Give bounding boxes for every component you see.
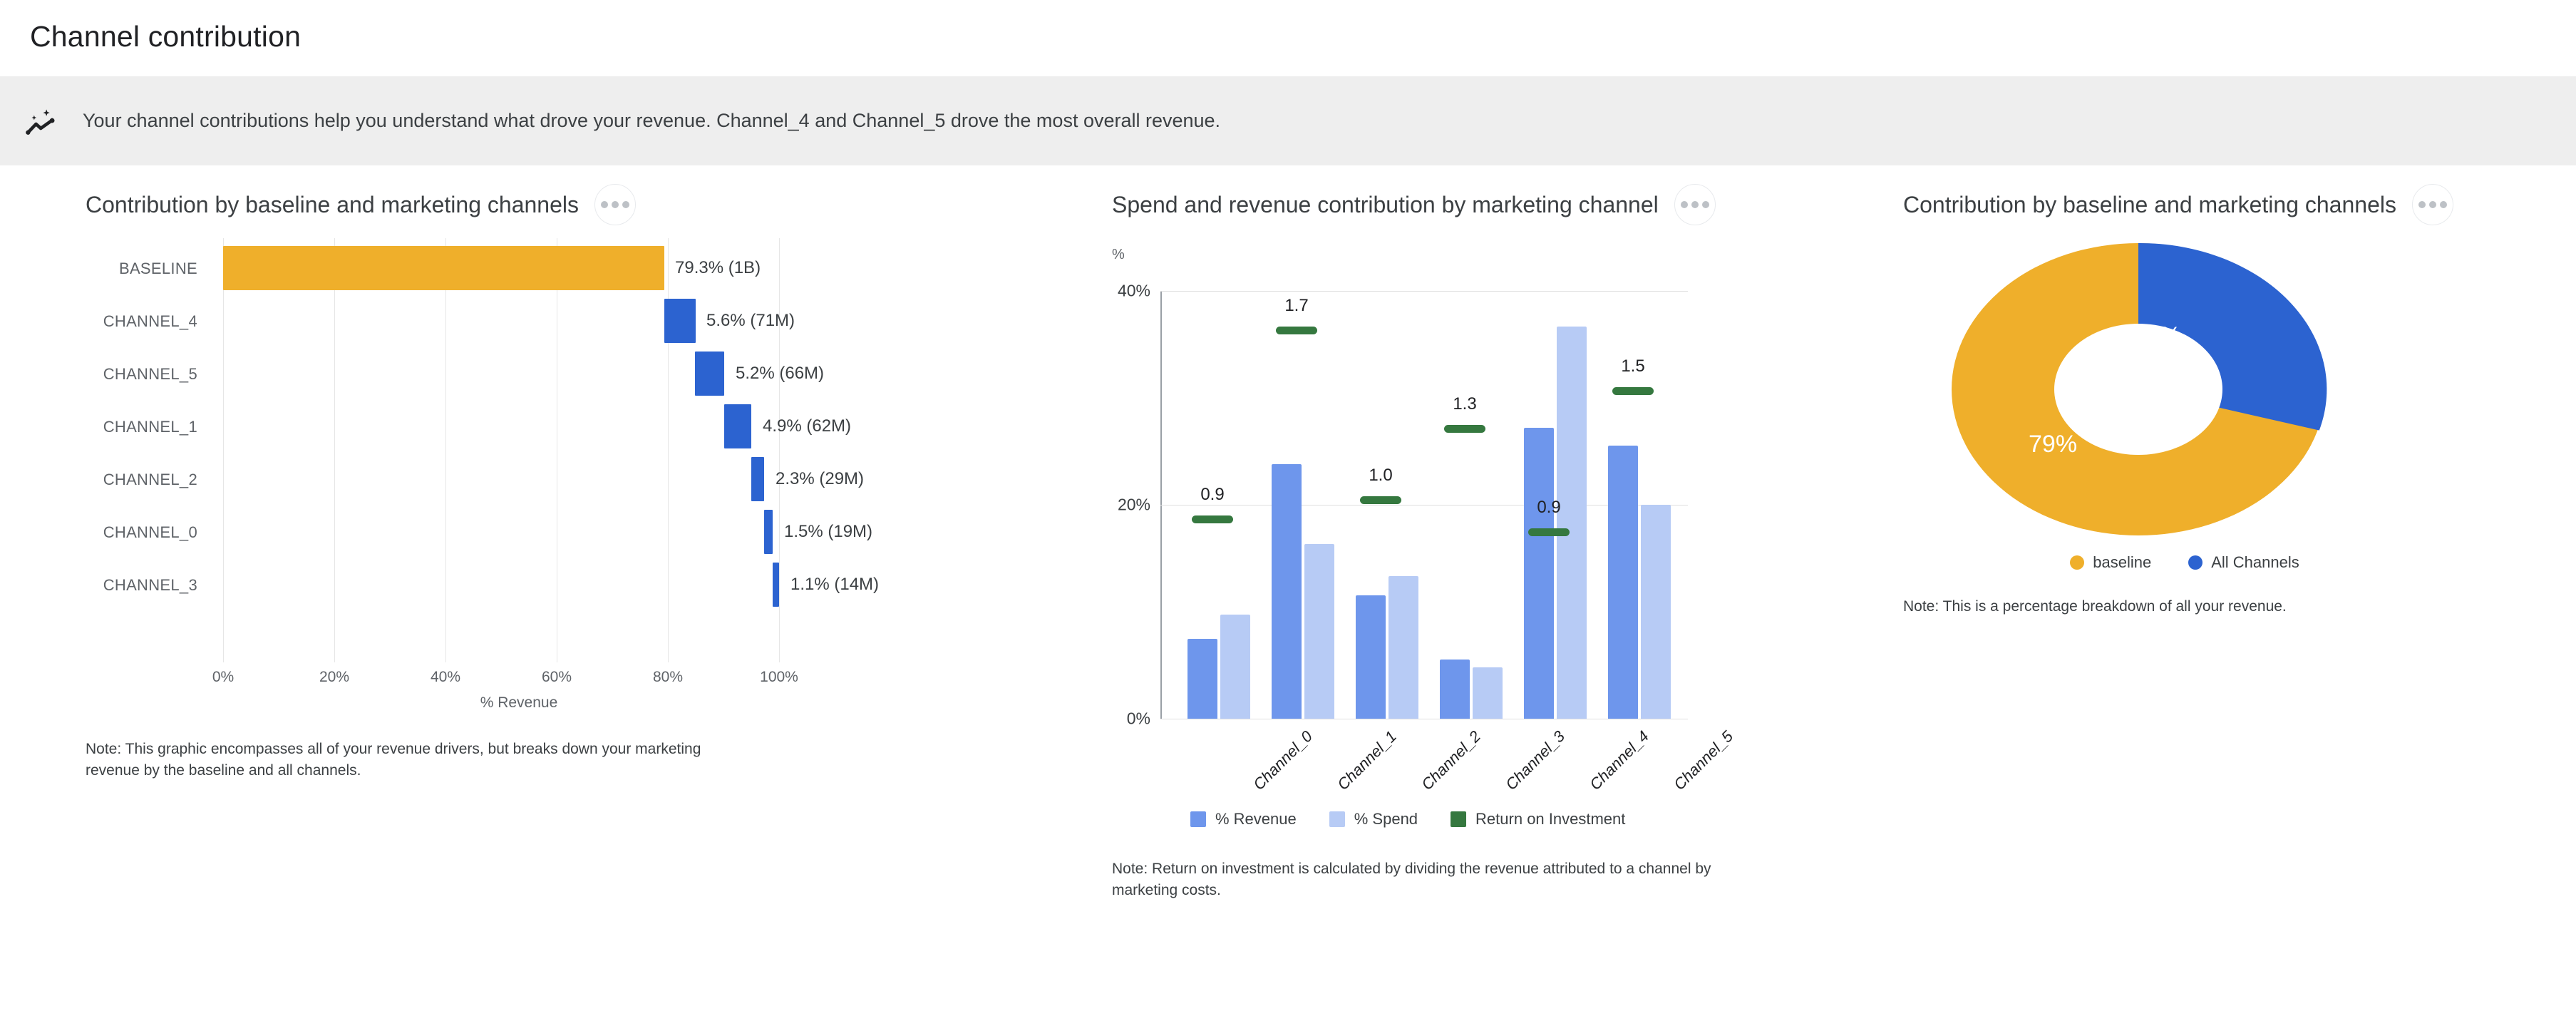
grouped-bar-spend-channel-1[interactable] bbox=[1304, 544, 1334, 719]
ellipsis-dot-icon bbox=[1691, 201, 1699, 208]
grouped-bar-spend-channel-4[interactable] bbox=[1557, 327, 1587, 719]
donut-note: Note: This is a percentage breakdown of … bbox=[1903, 596, 2459, 617]
waterfall-xtick: 0% bbox=[212, 669, 234, 686]
grouped-bar-spend-channel-3[interactable] bbox=[1473, 667, 1503, 719]
waterfall-x-axis-title: % Revenue bbox=[223, 694, 815, 712]
legend-dot-all-channels-icon bbox=[2188, 555, 2203, 570]
grouped-roi-marker-channel-4[interactable] bbox=[1528, 528, 1570, 536]
donut-svg bbox=[1917, 240, 2359, 539]
waterfall-category-label: CHANNEL_3 bbox=[86, 555, 210, 615]
auto-insight-sparkle-icon bbox=[20, 101, 61, 142]
waterfall-note: Note: This graphic encompasses all of yo… bbox=[86, 739, 713, 781]
grouped-bar-chart: % 0% 20% 40% 0.9 bbox=[1112, 247, 1704, 717]
legend-swatch-roi-icon bbox=[1451, 811, 1466, 827]
card-grouped-title: Spend and revenue contribution by market… bbox=[1112, 191, 1659, 218]
donut-legend-item-baseline[interactable]: baseline bbox=[2070, 553, 2151, 572]
waterfall-category-label: CHANNEL_0 bbox=[86, 502, 210, 563]
waterfall-xtick: 20% bbox=[319, 669, 349, 686]
ellipsis-dot-icon bbox=[1681, 201, 1688, 208]
grouped-roi-marker-channel-3[interactable] bbox=[1444, 425, 1485, 433]
waterfall-xtick: 80% bbox=[653, 669, 683, 686]
donut-legend-label-all-channels: All Channels bbox=[2211, 553, 2299, 572]
grouped-xtick-channel-3: Channel_3 bbox=[1502, 727, 1569, 794]
insight-banner-text: Your channel contributions help you unde… bbox=[83, 110, 1220, 132]
grouped-ytick: 0% bbox=[1127, 709, 1150, 729]
legend-swatch-spend-icon bbox=[1329, 811, 1345, 827]
legend-label-revenue: % Revenue bbox=[1215, 810, 1297, 828]
waterfall-value-label: 4.9% (62M) bbox=[763, 416, 851, 436]
card-waterfall-header: Contribution by baseline and marketing c… bbox=[86, 191, 1069, 225]
waterfall-xtick: 60% bbox=[542, 669, 572, 686]
waterfall-value-label: 1.1% (14M) bbox=[790, 575, 879, 595]
grouped-gridline bbox=[1160, 291, 1688, 292]
grouped-xtick-channel-4: Channel_4 bbox=[1586, 727, 1653, 794]
grouped-plot-area: 0% 20% 40% 0.9 1.7 1.0 bbox=[1160, 291, 1688, 719]
legend-label-spend: % Spend bbox=[1354, 810, 1418, 828]
ellipsis-dot-icon bbox=[622, 201, 629, 208]
waterfall-chart: BASELINE CHANNEL_4 CHANNEL_5 CHANNEL_1 C… bbox=[86, 238, 984, 680]
grouped-roi-marker-channel-1[interactable] bbox=[1276, 327, 1317, 334]
waterfall-bar-baseline[interactable] bbox=[223, 246, 664, 290]
waterfall-plot-area: 79.3% (1B) 5.6% (71M) 5.2% (66M) 4.9% (6… bbox=[223, 238, 815, 662]
legend-item-roi[interactable]: Return on Investment bbox=[1451, 810, 1625, 828]
waterfall-value-label: 1.5% (19M) bbox=[784, 522, 872, 542]
grouped-roi-label-channel-1: 1.7 bbox=[1284, 296, 1308, 316]
more-options-button-donut[interactable] bbox=[2412, 184, 2453, 225]
waterfall-value-label: 79.3% (1B) bbox=[675, 258, 761, 278]
waterfall-gridline bbox=[223, 238, 224, 662]
grouped-bar-revenue-channel-4[interactable] bbox=[1524, 428, 1554, 719]
waterfall-xtick: 40% bbox=[431, 669, 460, 686]
ellipsis-dot-icon bbox=[612, 201, 619, 208]
grouped-roi-label-channel-4: 0.9 bbox=[1537, 498, 1560, 518]
waterfall-gridline bbox=[557, 238, 557, 662]
grouped-xtick-channel-5: Channel_5 bbox=[1670, 727, 1737, 794]
grouped-legend: % Revenue % Spend Return on Investment bbox=[1190, 810, 1658, 828]
grouped-bar-spend-channel-2[interactable] bbox=[1389, 576, 1418, 719]
grouped-roi-marker-channel-2[interactable] bbox=[1360, 496, 1401, 504]
waterfall-category-label: BASELINE bbox=[86, 238, 210, 299]
ellipsis-dot-icon bbox=[2429, 201, 2436, 208]
waterfall-value-label: 5.6% (71M) bbox=[706, 311, 795, 331]
legend-dot-baseline-icon bbox=[2070, 555, 2084, 570]
grouped-roi-label-channel-5: 1.5 bbox=[1621, 356, 1644, 376]
waterfall-value-label: 5.2% (66M) bbox=[736, 364, 824, 384]
waterfall-gridline bbox=[779, 238, 780, 662]
grouped-ytick: 40% bbox=[1118, 282, 1150, 301]
donut-label-all-channels: 21% bbox=[2133, 322, 2181, 350]
waterfall-bar-channel-5[interactable] bbox=[695, 352, 724, 396]
grouped-ytick: 20% bbox=[1118, 496, 1150, 515]
card-donut: Contribution by baseline and marketing c… bbox=[1889, 191, 2576, 575]
waterfall-bar-channel-4[interactable] bbox=[664, 299, 696, 343]
grouped-bar-revenue-channel-1[interactable] bbox=[1272, 464, 1302, 719]
legend-item-spend[interactable]: % Spend bbox=[1329, 810, 1418, 828]
grouped-xtick-channel-0: Channel_0 bbox=[1250, 727, 1317, 794]
grouped-bar-revenue-channel-0[interactable] bbox=[1187, 639, 1217, 719]
grouped-unit-label: % bbox=[1112, 247, 1125, 263]
waterfall-category-label: CHANNEL_2 bbox=[86, 449, 210, 510]
card-donut-title: Contribution by baseline and marketing c… bbox=[1903, 191, 2396, 218]
grouped-bar-revenue-channel-3[interactable] bbox=[1440, 660, 1470, 719]
waterfall-value-label: 2.3% (29M) bbox=[776, 469, 864, 489]
donut-label-baseline: 79% bbox=[2029, 431, 2077, 458]
grouped-bar-revenue-channel-5[interactable] bbox=[1608, 446, 1638, 719]
legend-label-roi: Return on Investment bbox=[1475, 810, 1625, 828]
grouped-bar-spend-channel-5[interactable] bbox=[1641, 505, 1671, 719]
card-grouped-header: Spend and revenue contribution by market… bbox=[1112, 191, 1889, 225]
waterfall-category-label: CHANNEL_5 bbox=[86, 344, 210, 404]
grouped-gridline bbox=[1160, 719, 1688, 719]
card-donut-header: Contribution by baseline and marketing c… bbox=[1903, 191, 2576, 225]
legend-swatch-revenue-icon bbox=[1190, 811, 1206, 827]
insight-banner: Your channel contributions help you unde… bbox=[0, 76, 2576, 165]
card-waterfall-title: Contribution by baseline and marketing c… bbox=[86, 191, 579, 218]
ellipsis-dot-icon bbox=[2440, 201, 2447, 208]
more-options-button-waterfall[interactable] bbox=[594, 184, 636, 225]
grouped-xtick-channel-1: Channel_1 bbox=[1334, 727, 1401, 794]
waterfall-bar-channel-3[interactable] bbox=[773, 563, 779, 607]
grouped-roi-label-channel-0: 0.9 bbox=[1200, 485, 1224, 505]
card-waterfall: Contribution by baseline and marketing c… bbox=[0, 191, 1069, 781]
grouped-xtick-channel-2: Channel_2 bbox=[1418, 727, 1485, 794]
waterfall-gridline bbox=[445, 238, 446, 662]
grouped-bar-spend-channel-0[interactable] bbox=[1220, 615, 1250, 719]
waterfall-category-label: CHANNEL_4 bbox=[86, 291, 210, 352]
grouped-roi-marker-channel-0[interactable] bbox=[1192, 515, 1233, 523]
charts-row: Contribution by baseline and marketing c… bbox=[0, 165, 2576, 781]
card-grouped-bars: Spend and revenue contribution by market… bbox=[1069, 191, 1889, 717]
donut-legend-item-all-channels[interactable]: All Channels bbox=[2188, 553, 2299, 572]
legend-item-revenue[interactable]: % Revenue bbox=[1190, 810, 1297, 828]
waterfall-category-label: CHANNEL_1 bbox=[86, 396, 210, 457]
waterfall-bar-channel-0[interactable] bbox=[764, 510, 773, 554]
grouped-note: Note: Return on investment is calculated… bbox=[1112, 858, 1725, 901]
donut-legend-label-baseline: baseline bbox=[2093, 553, 2151, 572]
grouped-bar-revenue-channel-2[interactable] bbox=[1356, 595, 1386, 719]
ellipsis-dot-icon bbox=[2418, 201, 2426, 208]
ellipsis-dot-icon bbox=[601, 201, 608, 208]
waterfall-bar-channel-1[interactable] bbox=[724, 404, 751, 448]
waterfall-bar-channel-2[interactable] bbox=[751, 457, 764, 501]
more-options-button-grouped[interactable] bbox=[1674, 184, 1716, 225]
grouped-roi-marker-channel-5[interactable] bbox=[1612, 387, 1654, 395]
donut-legend: baseline All Channels bbox=[1903, 553, 2466, 572]
waterfall-xtick: 100% bbox=[760, 669, 798, 686]
grouped-roi-label-channel-2: 1.0 bbox=[1369, 466, 1392, 486]
grouped-roi-label-channel-3: 1.3 bbox=[1453, 394, 1476, 414]
page-title: Channel contribution bbox=[0, 0, 2576, 53]
waterfall-gridline bbox=[334, 238, 335, 662]
donut-chart: 21% 79% baseline All Channels Note: This… bbox=[1903, 240, 2466, 575]
ellipsis-dot-icon bbox=[1702, 201, 1709, 208]
